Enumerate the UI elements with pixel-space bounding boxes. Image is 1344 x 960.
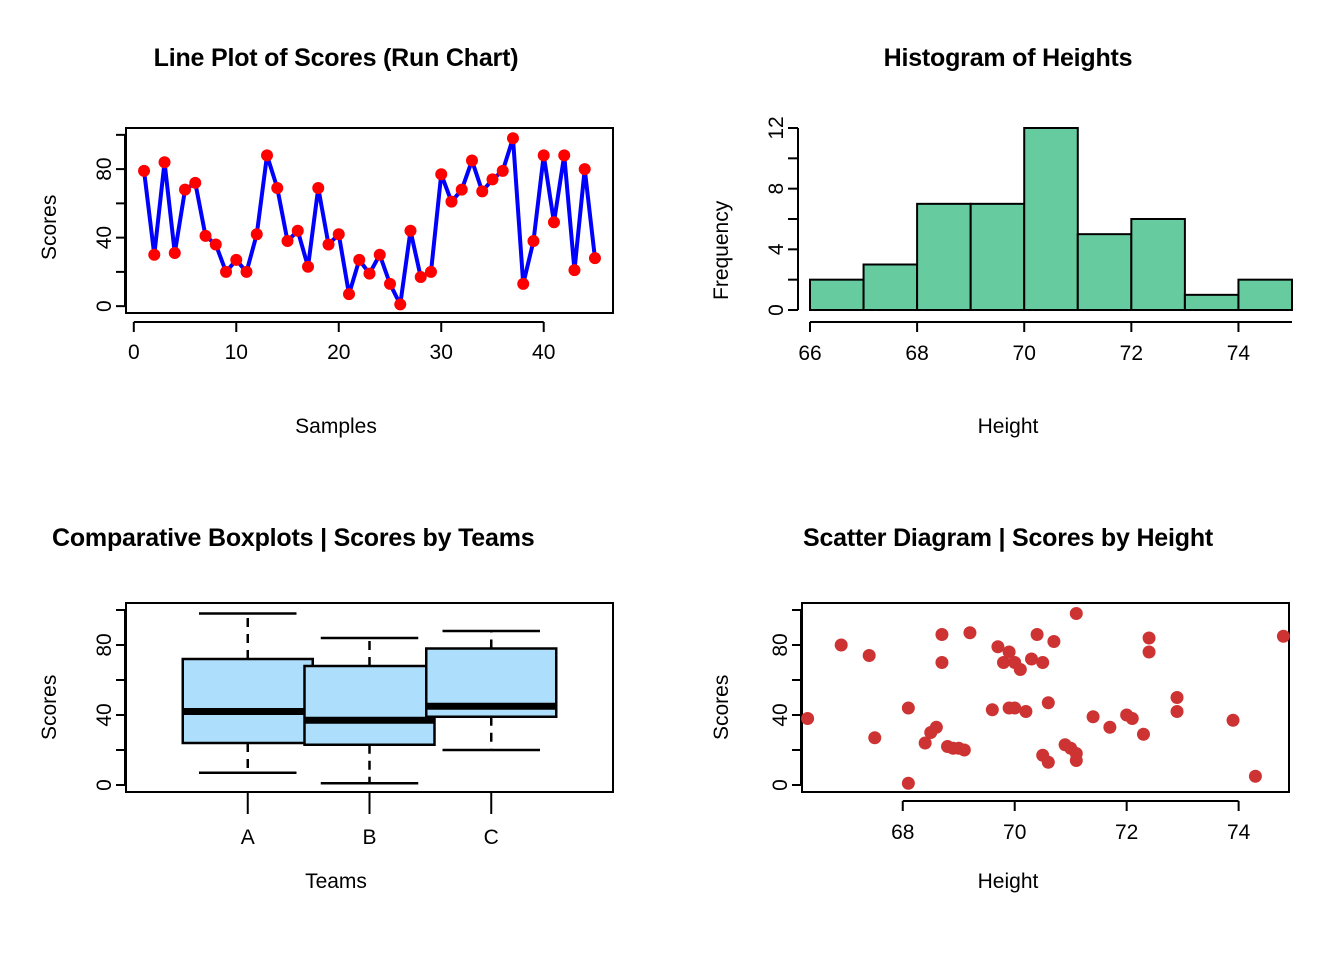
run-chart-point — [312, 182, 324, 194]
histogram-xtick-label: 74 — [1227, 342, 1251, 365]
boxplots-ytick-label: 0 — [93, 779, 116, 791]
boxplot-box — [183, 659, 313, 743]
run-chart-point — [333, 228, 345, 240]
histogram-bar — [917, 204, 971, 310]
run-chart-xtick-label: 10 — [225, 341, 248, 364]
run-chart-point — [241, 266, 253, 278]
run-chart-point — [271, 182, 283, 194]
run-chart-point — [364, 268, 376, 280]
panel-scatter: Scatter Diagram | Scores by Height Heigh… — [672, 480, 1344, 960]
scatter-point — [1025, 653, 1038, 666]
scatter-point — [1249, 770, 1262, 783]
histogram-svg: 048126668707274 — [672, 0, 1344, 480]
run-chart-point — [251, 228, 263, 240]
histogram-bar — [1131, 219, 1185, 310]
scatter-ytick-label: 80 — [769, 633, 792, 656]
scatter-xtick-label: 74 — [1227, 821, 1251, 844]
scatter-point — [930, 721, 943, 734]
run-chart-point — [568, 264, 580, 276]
scatter-point — [1070, 754, 1083, 767]
scatter-point — [1019, 705, 1032, 718]
scatter-ytick-label: 40 — [769, 703, 792, 726]
run-chart-point — [261, 149, 273, 161]
scatter-point — [1171, 691, 1184, 704]
run-chart-point — [476, 185, 488, 197]
scatter-point — [1143, 632, 1156, 645]
run-chart-point — [159, 156, 171, 168]
run-chart-xtick-label: 40 — [532, 341, 555, 364]
scatter-point — [1031, 628, 1044, 641]
histogram-ytick-label: 4 — [765, 243, 788, 255]
run-chart-point — [200, 230, 212, 242]
run-chart-point — [497, 165, 509, 177]
scatter-point — [863, 649, 876, 662]
boxplots-ytick-label: 40 — [93, 703, 116, 726]
histogram-xtick-label: 72 — [1120, 342, 1143, 365]
run-chart-point — [323, 238, 335, 250]
scatter-point — [1036, 656, 1049, 669]
scatter-point — [1087, 710, 1100, 723]
scatter-ytick-label: 0 — [769, 779, 792, 791]
scatter-point — [835, 639, 848, 652]
histogram-bar — [1024, 128, 1078, 310]
scatter-point — [935, 656, 948, 669]
scatter-svg: 0408068707274 — [672, 480, 1344, 960]
run-chart-ytick-label: 40 — [93, 226, 116, 249]
histogram-ytick-label: 8 — [765, 183, 788, 195]
run-chart-point — [210, 238, 222, 250]
run-chart-point — [292, 225, 304, 237]
panel-boxplots: Comparative Boxplots | Scores by Teams T… — [0, 480, 672, 960]
figure-grid: Line Plot of Scores (Run Chart) Samples … — [0, 0, 1344, 960]
panel-run-chart: Line Plot of Scores (Run Chart) Samples … — [0, 0, 672, 480]
histogram-bar — [810, 280, 864, 310]
histogram-bar — [1185, 295, 1239, 310]
run-chart-point — [374, 249, 386, 261]
scatter-point — [991, 640, 1004, 653]
scatter-point — [902, 702, 915, 715]
run-chart-point — [189, 177, 201, 189]
run-chart-xtick-label: 20 — [327, 341, 350, 364]
run-chart-point — [179, 184, 191, 196]
run-chart-point — [435, 168, 447, 180]
histogram-bar — [1078, 234, 1132, 310]
run-chart-point — [538, 149, 550, 161]
run-chart-point — [589, 252, 601, 264]
histogram-xtick-label: 66 — [798, 342, 821, 365]
histogram-xtick-label: 68 — [905, 342, 928, 365]
scatter-point — [1103, 721, 1116, 734]
scatter-point — [1014, 663, 1027, 676]
run-chart-point — [220, 266, 232, 278]
run-chart-point — [579, 163, 591, 175]
scatter-point — [1042, 696, 1055, 709]
run-chart-point — [404, 225, 416, 237]
scatter-point — [868, 731, 881, 744]
boxplots-svg: 04080ABC — [0, 480, 672, 960]
run-chart-point — [302, 261, 314, 273]
scatter-point — [1042, 756, 1055, 769]
scatter-point — [801, 712, 814, 725]
histogram-bar — [971, 204, 1025, 310]
run-chart-xtick-label: 30 — [430, 341, 453, 364]
run-chart-point — [148, 249, 160, 261]
run-chart-point — [548, 216, 560, 228]
run-chart-point — [230, 254, 242, 266]
scatter-point — [1008, 702, 1021, 715]
scatter-point — [986, 703, 999, 716]
run-chart-svg: 04080010203040 — [0, 0, 672, 480]
boxplots-xtick-label: B — [362, 826, 376, 849]
histogram-ytick-label: 0 — [765, 304, 788, 316]
run-chart-point — [517, 278, 529, 290]
run-chart-point — [169, 247, 181, 259]
scatter-point — [1277, 630, 1290, 643]
scatter-point — [1126, 712, 1139, 725]
boxplots-xtick-label: C — [484, 826, 499, 849]
scatter-point — [1143, 646, 1156, 659]
run-chart-point — [282, 235, 294, 247]
panel-histogram: Histogram of Heights Height Frequency 04… — [672, 0, 1344, 480]
run-chart-point — [456, 184, 468, 196]
run-chart-point — [507, 132, 519, 144]
run-chart-point — [466, 155, 478, 167]
scatter-point — [1070, 607, 1083, 620]
run-chart-point — [353, 254, 365, 266]
scatter-point — [902, 777, 915, 790]
scatter-point — [935, 628, 948, 641]
run-chart-point — [415, 271, 427, 283]
scatter-point — [1227, 714, 1240, 727]
boxplot-box — [305, 666, 435, 745]
scatter-xtick-label: 68 — [891, 821, 914, 844]
run-chart-point — [425, 266, 437, 278]
run-chart-point — [138, 165, 150, 177]
histogram-bar — [864, 265, 918, 311]
scatter-xtick-label: 70 — [1003, 821, 1026, 844]
run-chart-point — [527, 235, 539, 247]
scatter-point — [1047, 635, 1060, 648]
run-chart-point — [343, 288, 355, 300]
histogram-bar — [1238, 280, 1292, 310]
boxplots-ytick-label: 80 — [93, 633, 116, 656]
run-chart-ytick-label: 80 — [93, 157, 116, 180]
histogram-xtick-label: 70 — [1013, 342, 1036, 365]
run-chart-point — [384, 278, 396, 290]
histogram-ytick-label: 12 — [765, 116, 788, 139]
run-chart-point — [558, 149, 570, 161]
scatter-point — [1171, 705, 1184, 718]
scatter-point — [958, 744, 971, 757]
run-chart-point — [445, 196, 457, 208]
scatter-point — [1137, 728, 1150, 741]
scatter-xtick-label: 72 — [1115, 821, 1138, 844]
run-chart-point — [394, 298, 406, 310]
run-chart-point — [486, 173, 498, 185]
boxplots-xtick-label: A — [241, 826, 255, 849]
scatter-point — [963, 626, 976, 639]
run-chart-xtick-label: 0 — [128, 341, 140, 364]
run-chart-ytick-label: 0 — [93, 300, 116, 312]
